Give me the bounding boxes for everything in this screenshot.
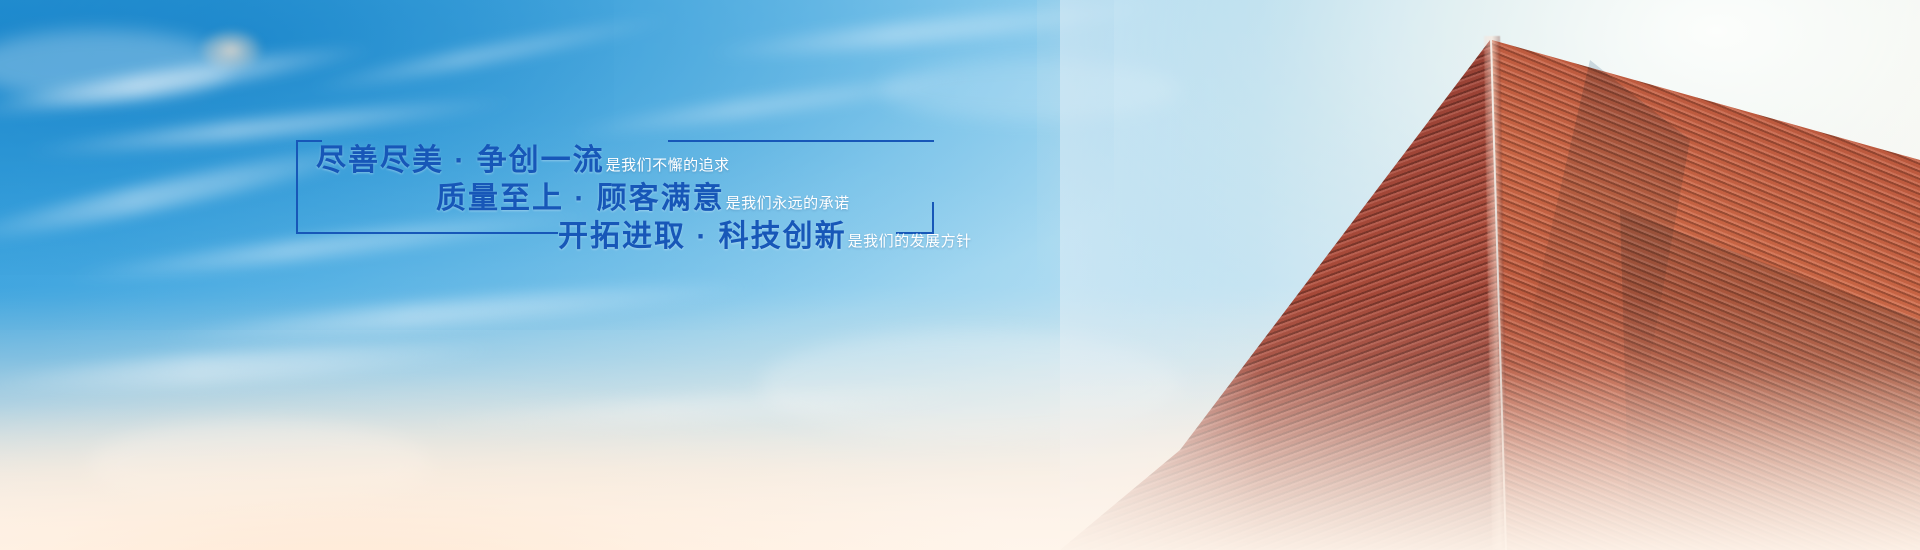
slogan-line-2-headline: 质量至上 · 顾客满意 — [436, 184, 725, 214]
lens-flare — [200, 30, 262, 70]
slogan-line-1: 尽善尽美 · 争创一流是我们不懈的追求 — [316, 146, 730, 176]
frame-left-vertical-rule — [296, 140, 298, 234]
frame-top-left-stub — [296, 140, 322, 142]
bottom-left-warm-glow — [0, 374, 1018, 550]
frame-top-horizontal-rule — [668, 140, 934, 142]
slogan-line-2: 质量至上 · 顾客满意是我们永远的承诺 — [436, 184, 850, 214]
slogan-line-1-subtext: 是我们不懈的追求 — [606, 158, 730, 173]
slogan-line-3-subtext: 是我们的发展方针 — [848, 234, 972, 249]
hero-banner: 尽善尽美 · 争创一流是我们不懈的追求 质量至上 · 顾客满意是我们永远的承诺 … — [0, 0, 1920, 550]
slogan-line-2-subtext: 是我们永远的承诺 — [726, 196, 850, 211]
slogan-line-3: 开拓进取 · 科技创新是我们的发展方针 — [558, 222, 972, 252]
slogan-line-1-headline: 尽善尽美 · 争创一流 — [316, 146, 605, 176]
slogan-line-3-headline: 开拓进取 · 科技创新 — [558, 222, 847, 252]
frame-bottom-horizontal-rule — [296, 232, 558, 234]
slogan-block: 尽善尽美 · 争创一流是我们不懈的追求 质量至上 · 顾客满意是我们永远的承诺 … — [296, 140, 936, 240]
